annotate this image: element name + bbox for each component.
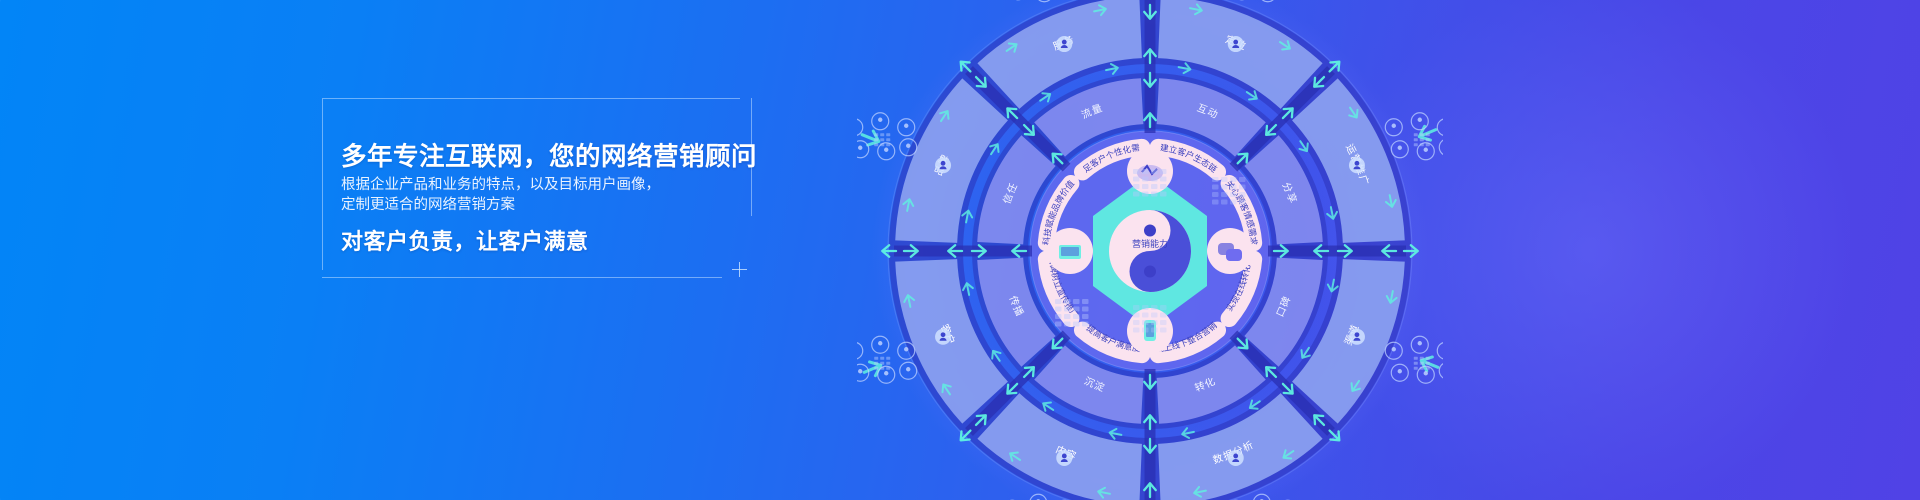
grid-icon — [1414, 357, 1418, 360]
user-icon — [857, 342, 863, 359]
grid-icon-cell — [1133, 169, 1140, 174]
grid-icon — [880, 367, 884, 370]
node-glyph — [906, 144, 910, 148]
grid-icon-cell — [1239, 200, 1246, 205]
flow-arrow — [859, 128, 881, 149]
grid-icon-cell — [1151, 313, 1158, 318]
user-icon — [1355, 332, 1360, 337]
decorative-frame-bottom-edge — [322, 277, 722, 278]
grid-icon-cell — [1082, 299, 1089, 304]
grid-icon — [1426, 362, 1430, 365]
lock-icon — [1437, 119, 1443, 136]
grid-icon — [874, 357, 878, 360]
grid-icon-cell — [1160, 313, 1167, 318]
center-icon-monitor — [1047, 228, 1093, 274]
grid-icon-cell — [1212, 177, 1219, 182]
node-glyph — [878, 118, 882, 122]
grid-icon-cell — [1151, 305, 1158, 310]
grid-icon-cell — [1151, 320, 1158, 325]
grid-icon — [1420, 143, 1424, 146]
grid-icon-cell — [1212, 192, 1219, 197]
grid-icon-cell — [1055, 299, 1062, 304]
user-icon — [1233, 454, 1238, 459]
node-glyph — [1398, 369, 1402, 373]
grid-icon — [880, 133, 884, 136]
grid-icon — [1414, 367, 1418, 370]
grid-icon-cell — [1142, 184, 1149, 189]
grid-icon-cell — [1064, 307, 1071, 312]
grid-icon — [886, 367, 890, 370]
grid-icon-cell — [1160, 169, 1167, 174]
node-glyph — [858, 146, 862, 150]
subtitle-line-1: 根据企业产品和业务的特点，以及目标用户画像， — [341, 175, 660, 195]
grid-icon — [880, 357, 884, 360]
grid-icon-cell — [1160, 192, 1167, 197]
grid-icon-cell — [1160, 177, 1167, 182]
grid-icon-cell — [1221, 200, 1228, 205]
grid-icon — [886, 138, 890, 141]
user-icon — [1062, 454, 1067, 459]
grid-icon-cell — [1212, 200, 1219, 205]
user-icon — [941, 332, 946, 337]
grid-icon-cell — [1230, 192, 1237, 197]
hero-text-block: 多年专注互联网，您的网络营销顾问 根据企业产品和业务的特点，以及目标用户画像， … — [322, 98, 752, 278]
grid-icon — [1420, 133, 1424, 136]
grid-icon — [874, 362, 878, 365]
subtitle: 根据企业产品和业务的特点，以及目标用户画像， 定制更适合的网络营销方案 — [341, 175, 660, 215]
node-glyph — [1418, 118, 1422, 122]
grid-icon-cell — [1221, 177, 1228, 182]
grid-icon-cell — [1160, 184, 1167, 189]
grid-icon-cell — [1133, 328, 1140, 333]
grid-icon-cell — [1082, 307, 1089, 312]
grid-icon-cell — [1073, 299, 1080, 304]
grid-icon-cell — [1133, 305, 1140, 310]
grid-icon-cell — [1142, 313, 1149, 318]
node-glyph — [906, 367, 910, 371]
promo-banner: 多年专注互联网，您的网络营销顾问 根据企业产品和业务的特点，以及目标用户画像， … — [0, 0, 1920, 500]
node-glyph — [1392, 347, 1396, 351]
grid-icon — [1426, 357, 1430, 360]
grid-icon-cell — [1055, 307, 1062, 312]
grid-icon-cell — [1230, 177, 1237, 182]
lock-icon — [1439, 362, 1443, 379]
grid-icon — [1414, 138, 1418, 141]
user-icon — [1233, 40, 1238, 45]
grid-icon-cell — [1160, 328, 1167, 333]
grid-icon — [1420, 138, 1424, 141]
grid-icon-cell — [1239, 177, 1246, 182]
page-title: 多年专注互联网，您的网络营销顾问 — [341, 136, 757, 173]
grid-icon-cell — [1133, 313, 1140, 318]
node-glyph — [884, 148, 888, 152]
grid-icon-cell — [1142, 305, 1149, 310]
grid-icon — [886, 143, 890, 146]
grid-icon-cell — [1230, 185, 1237, 190]
grid-icon-cell — [1221, 192, 1228, 197]
lock-icon — [1437, 342, 1443, 359]
subtitle-line-2: 定制更适合的网络营销方案 — [341, 195, 660, 215]
grid-icon — [874, 138, 878, 141]
grid-icon-cell — [1142, 192, 1149, 197]
grid-icon — [880, 362, 884, 365]
grid-icon — [1420, 357, 1424, 360]
grid-icon-cell — [1055, 322, 1062, 327]
grid-icon — [1414, 362, 1418, 365]
node-glyph — [904, 347, 908, 351]
grid-icon — [886, 133, 890, 136]
grid-icon-cell — [1064, 299, 1071, 304]
decorative-cross-marker — [732, 262, 747, 277]
grid-icon-cell — [1151, 177, 1158, 182]
grid-icon-cell — [1151, 192, 1158, 197]
user-icon — [1062, 40, 1067, 45]
wheel-svg: 定位运营推广渠道数据分析内容客户品牌服务 互动分享口碑转化沉淀传播信任流量 建立… — [857, 0, 1443, 500]
grid-icon — [874, 143, 878, 146]
grid-icon-cell — [1239, 185, 1246, 190]
node-glyph — [858, 369, 862, 373]
grid-icon-cell — [1133, 320, 1140, 325]
grid-icon-cell — [1142, 169, 1149, 174]
node-glyph — [1424, 148, 1428, 152]
grid-icon-cell — [1212, 185, 1219, 190]
grid-icon-cell — [1055, 314, 1062, 319]
grid-icon — [1426, 138, 1430, 141]
center-icon-chat — [1207, 228, 1253, 274]
node-glyph — [1392, 124, 1396, 128]
grid-icon — [874, 367, 878, 370]
marketing-wheel-graphic: 定位运营推广渠道数据分析内容客户品牌服务 互动分享口碑转化沉淀传播信任流量 建立… — [857, 0, 1443, 500]
grid-icon-cell — [1151, 169, 1158, 174]
grid-icon-cell — [1142, 177, 1149, 182]
grid-icon-cell — [1221, 185, 1228, 190]
grid-icon — [886, 357, 890, 360]
grid-icon-cell — [1142, 320, 1149, 325]
user-icon — [941, 161, 946, 166]
grid-icon-cell — [1133, 184, 1140, 189]
node-glyph — [1398, 146, 1402, 150]
grid-icon-cell — [1073, 322, 1080, 327]
grid-icon-cell — [1082, 322, 1089, 327]
node-glyph — [1424, 371, 1428, 375]
center-yinyang-dot-bottom — [1144, 266, 1156, 278]
node-glyph — [878, 341, 882, 345]
grid-icon-cell — [1239, 192, 1246, 197]
tagline: 对客户负责，让客户满意 — [341, 224, 589, 256]
grid-icon — [1426, 133, 1430, 136]
grid-icon — [1420, 367, 1424, 370]
node-glyph — [884, 371, 888, 375]
grid-icon — [886, 362, 890, 365]
grid-icon-cell — [1064, 322, 1071, 327]
grid-icon — [1414, 133, 1418, 136]
grid-icon-cell — [1073, 314, 1080, 319]
grid-icon-cell — [1133, 192, 1140, 197]
grid-icon — [1426, 143, 1430, 146]
grid-icon-cell — [1082, 314, 1089, 319]
grid-icon — [1420, 362, 1424, 365]
grid-icon — [1414, 143, 1418, 146]
grid-icon-cell — [1142, 328, 1149, 333]
node-glyph — [1418, 341, 1422, 345]
grid-icon — [880, 143, 884, 146]
grid-icon-cell — [1230, 200, 1237, 205]
grid-icon-cell — [1133, 177, 1140, 182]
center-label: 营销能力 — [1132, 238, 1168, 249]
grid-icon-cell — [1160, 305, 1167, 310]
center-yinyang-dot-top — [1144, 225, 1156, 237]
grid-icon-cell — [1151, 184, 1158, 189]
grid-icon-cell — [1073, 307, 1080, 312]
user-icon — [1355, 161, 1360, 166]
grid-icon-cell — [1160, 320, 1167, 325]
grid-icon — [880, 138, 884, 141]
node-glyph — [904, 124, 908, 128]
grid-icon — [874, 133, 878, 136]
grid-icon-cell — [1151, 328, 1158, 333]
grid-icon-cell — [1064, 314, 1071, 319]
grid-icon — [1426, 367, 1430, 370]
lock-icon — [1439, 139, 1443, 156]
